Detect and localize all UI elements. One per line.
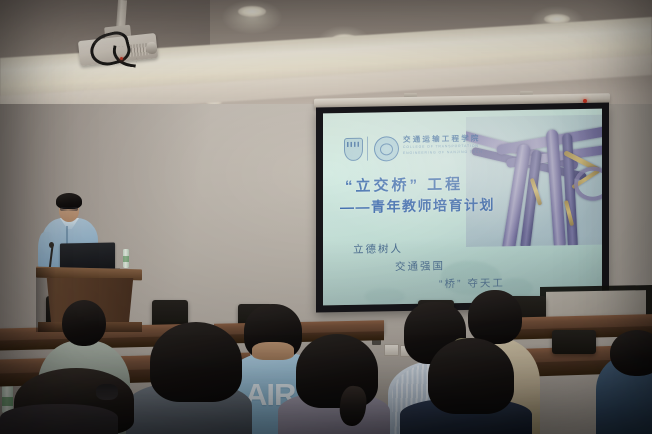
lecture-hall-photo: 交通运输工程学院 COLLEGE OF TRANSPORTATION ENGIN… xyxy=(0,0,652,434)
photo-vignette xyxy=(0,0,652,434)
